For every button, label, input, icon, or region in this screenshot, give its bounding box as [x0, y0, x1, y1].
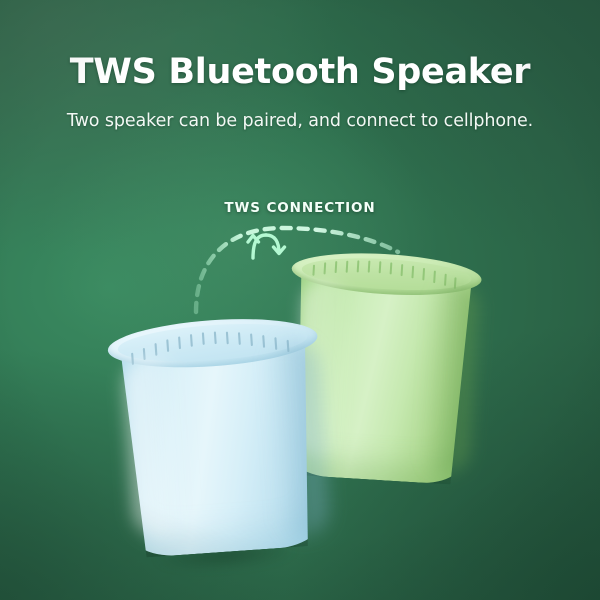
background-vignette [0, 0, 600, 600]
product-banner: TWS Bluetooth Speaker Two speaker can be… [0, 0, 600, 600]
